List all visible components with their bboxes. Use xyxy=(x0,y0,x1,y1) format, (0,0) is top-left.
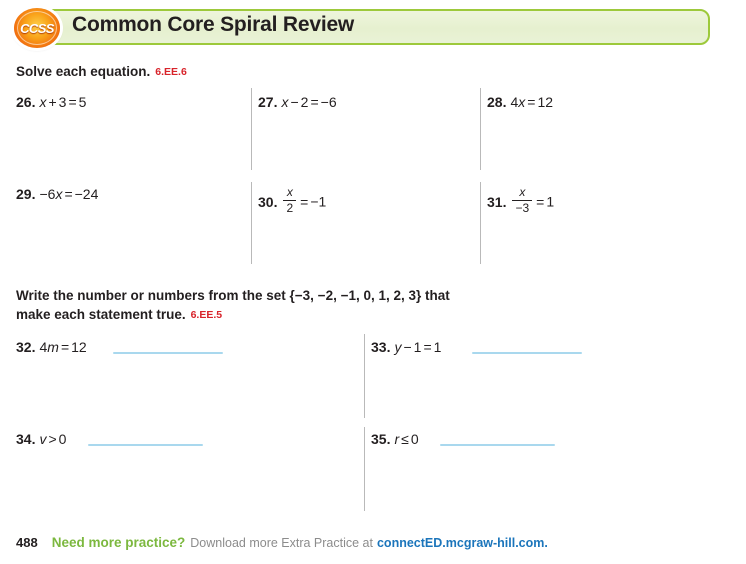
directions-line-1: Write the number or numbers from the set… xyxy=(16,288,450,303)
directions-solve-equations: Solve each equation.6.EE.6 xyxy=(16,62,187,82)
problem-number: 33. xyxy=(371,339,390,355)
operator-minus: − xyxy=(401,339,413,355)
equals-sign: = xyxy=(66,94,78,110)
problem-number: 31. xyxy=(487,194,506,210)
fraction: x−3 xyxy=(512,186,532,215)
fraction-denominator: 2 xyxy=(283,201,296,215)
ccss-logo-icon: CCSS xyxy=(14,8,60,48)
problem-31: 31.x−3=1 xyxy=(487,186,554,215)
problem-29: 29.−6x=−24 xyxy=(16,186,98,203)
equals-sign: = xyxy=(421,339,433,355)
right-hand-side: 12 xyxy=(71,339,87,355)
problem-34: 34.v>0 xyxy=(16,431,66,448)
problem-number: 29. xyxy=(16,186,35,202)
right-hand-side: 0 xyxy=(411,431,419,447)
problem-27: 27.x−2=−6 xyxy=(258,94,337,111)
equals-sign: = xyxy=(534,194,546,210)
coefficient: −6 xyxy=(39,186,55,202)
standard-code: 6.EE.6 xyxy=(155,66,187,78)
column-divider xyxy=(364,334,365,418)
problem-variable: m xyxy=(47,339,59,355)
directions-line-2: make each statement true. xyxy=(16,307,186,322)
right-hand-side: 0 xyxy=(59,431,67,447)
inequality-sign: > xyxy=(46,431,58,447)
column-divider xyxy=(480,182,481,264)
directions-text: Solve each equation. xyxy=(16,64,150,79)
problem-number: 32. xyxy=(16,339,35,355)
fraction-denominator: −3 xyxy=(512,201,532,215)
directions-number-set: Write the number or numbers from the set… xyxy=(16,286,576,325)
problem-number: 26. xyxy=(16,94,35,110)
answer-line-33[interactable] xyxy=(472,352,582,354)
column-divider xyxy=(364,427,365,511)
equals-sign: = xyxy=(525,94,537,110)
fraction-numerator: x xyxy=(512,186,532,201)
answer-line-35[interactable] xyxy=(440,444,555,446)
download-text: Download more Extra Practice at xyxy=(190,536,373,550)
problem-33: 33.y−1=1 xyxy=(371,339,441,356)
need-more-practice-label: Need more practice? xyxy=(52,535,186,550)
equals-sign: = xyxy=(62,186,74,202)
connected-url-link[interactable]: connectED.mcgraw-hill.com. xyxy=(377,536,548,550)
ccss-logo-label: CCSS xyxy=(20,21,54,36)
problem-number: 35. xyxy=(371,431,390,447)
right-hand-side: 5 xyxy=(79,94,87,110)
right-hand-side: 1 xyxy=(434,339,442,355)
right-hand-side: 1 xyxy=(546,194,554,210)
equals-sign: = xyxy=(59,339,71,355)
problem-32: 32.4m=12 xyxy=(16,339,87,356)
problem-number: 30. xyxy=(258,194,277,210)
problem-number: 27. xyxy=(258,94,277,110)
fraction-numerator: x xyxy=(283,186,296,201)
answer-line-32[interactable] xyxy=(113,352,223,354)
standard-code: 6.EE.5 xyxy=(191,309,223,321)
right-hand-side: 12 xyxy=(537,94,553,110)
page-footer: 488Need more practice?Download more Extr… xyxy=(16,534,548,552)
column-divider xyxy=(251,182,252,264)
problem-number: 28. xyxy=(487,94,506,110)
problem-35: 35.r≤0 xyxy=(371,431,419,448)
problem-number: 34. xyxy=(16,431,35,447)
problem-30: 30.x2=−1 xyxy=(258,186,326,215)
fraction: x2 xyxy=(283,186,296,215)
equals-sign: = xyxy=(298,194,310,210)
answer-line-34[interactable] xyxy=(88,444,203,446)
equals-sign: = xyxy=(308,94,320,110)
problem-28: 28.4x=12 xyxy=(487,94,553,111)
operator-minus: − xyxy=(288,94,300,110)
right-hand-side: −24 xyxy=(75,186,99,202)
right-hand-side: −6 xyxy=(321,94,337,110)
right-hand-side: −1 xyxy=(310,194,326,210)
operator-plus: + xyxy=(46,94,58,110)
page-number: 488 xyxy=(16,535,38,550)
column-divider xyxy=(480,88,481,170)
problem-26: 26.x+3=5 xyxy=(16,94,86,111)
page-title: Common Core Spiral Review xyxy=(72,13,354,37)
column-divider xyxy=(251,88,252,170)
inequality-sign: ≤ xyxy=(399,431,411,447)
